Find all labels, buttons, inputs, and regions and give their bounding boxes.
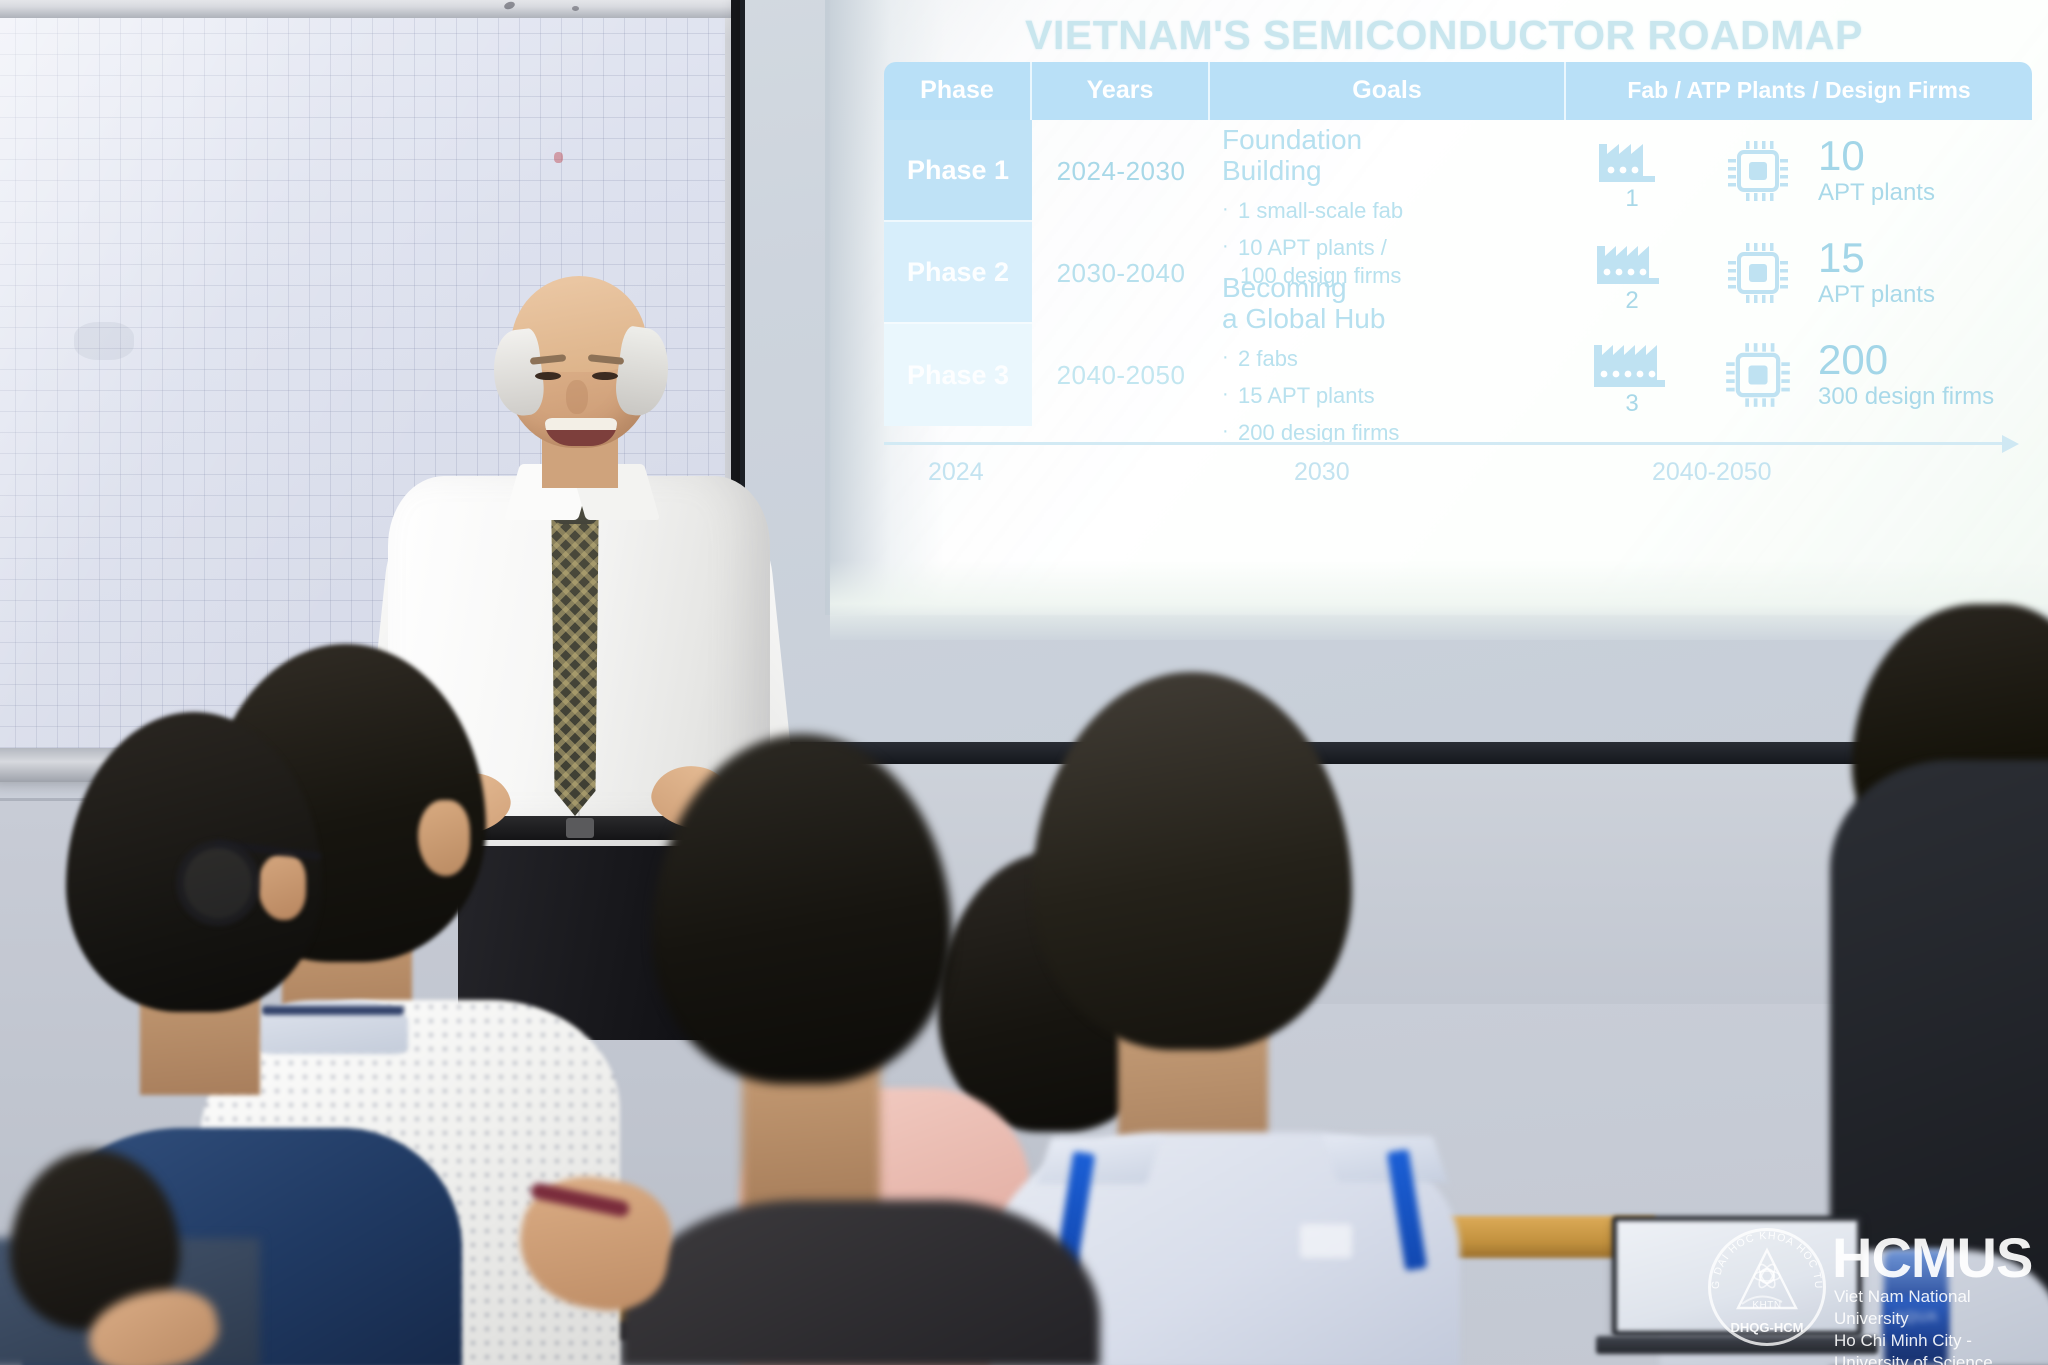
chip-unit-phase-3: 200 300 design firms [1698, 339, 2028, 411]
presenter-eye-right [592, 372, 618, 380]
chip-number-phase-3: 200 [1818, 339, 1888, 381]
seal-emblem-icon [1730, 1246, 1804, 1324]
fab-row-phase-2: 2 [1566, 222, 2032, 324]
chip-number-phase-1: 10 [1818, 135, 1865, 177]
timeline-arrow-icon [2002, 435, 2019, 453]
years-column: 2024-2030 2030-2040 2040-2050 [1032, 120, 1210, 427]
hcmus-full-name: Viet Nam National University Ho Chi Minh… [1834, 1286, 2044, 1365]
belt-buckle [566, 818, 594, 838]
table-row-phase-2-label: Phase 2 [884, 222, 1032, 324]
audience-member-body [620, 1200, 1100, 1365]
audience-member-collar [1037, 1138, 1162, 1184]
hcmus-line-3: University of Science [1834, 1353, 1993, 1365]
fab-unit-phase-1: 1 [1566, 130, 1698, 213]
bullet-icon: · [1222, 234, 1229, 260]
column-header-years: Years [1032, 62, 1210, 120]
fab-atp-column: 1 [1566, 120, 2032, 427]
screenshot-scene: VIETNAM'S SEMICONDUCTOR ROADMAP Phase Ye… [0, 0, 2048, 1365]
goal-item-text: 15 APT plants [1238, 383, 1375, 408]
hcmus-line-2: Ho Chi Minh City - [1834, 1331, 1972, 1350]
presenter-nose [566, 380, 588, 414]
timeline-label-2040-2050: 2040-2050 [1652, 458, 1772, 487]
slide-title: VIETNAM'S SEMICONDUCTOR ROADMAP [924, 12, 1964, 59]
timeline-axis: 2024 2030 2040-2050 [884, 432, 2032, 502]
goal-block-foundation: Foundation Building · 1 small-scale fab … [1222, 124, 1566, 290]
seal-inner-text: KHTN [1708, 1300, 1826, 1311]
goal-heading-line-2: a Global Hub [1222, 303, 1385, 334]
hcmus-watermark: TRUONG DAI HOC KHOA HOC TU NHIEN KHTN DH… [1700, 1220, 2048, 1365]
timeline-label-2024: 2024 [928, 458, 984, 487]
fab-count-phase-3: 3 [1625, 390, 1638, 418]
chip-values-phase-3: 200 300 design firms [1818, 339, 2028, 411]
timeline-label-2030: 2030 [1294, 458, 1350, 487]
table-row-phase-1-years: 2024-2030 [1032, 120, 1210, 222]
goal-item-text: 2 fabs [1238, 346, 1298, 371]
goal-item-text: 1 small-scale fab [1238, 198, 1403, 223]
lanyard-badge [1300, 1224, 1352, 1258]
factory-icon [1595, 130, 1669, 182]
bullet-icon: · [1222, 197, 1229, 223]
goals-column: Foundation Building · 1 small-scale fab … [1210, 120, 1566, 427]
audience-member-collar [1323, 1136, 1448, 1182]
microchip-icon [1725, 240, 1791, 306]
timeline-line [884, 442, 2004, 445]
chip-values-phase-2: 15 APT plants [1818, 237, 2028, 309]
hcmus-line-1: Viet Nam National University [1834, 1287, 1971, 1328]
fab-count-phase-2: 2 [1625, 287, 1638, 315]
chip-number-phase-2: 15 [1818, 237, 1865, 279]
column-header-goals: Goals [1210, 62, 1566, 120]
projection-bottom-falloff [830, 560, 2048, 640]
hcmus-acronym: HCMUS [1832, 1230, 2032, 1286]
collar-stripe [262, 1006, 404, 1015]
bullet-icon: · [1222, 345, 1229, 371]
factory-icon [1590, 333, 1674, 387]
microchip-icon [1723, 340, 1793, 410]
whiteboard-top-rail [0, 0, 731, 18]
chip-icon-wrap [1698, 340, 1818, 410]
microchip-icon [1725, 138, 1791, 204]
factory-icon [1593, 232, 1671, 284]
chip-label-phase-1: APT plants [1818, 179, 1935, 207]
seal-bottom-text: DHQG-HCM [1700, 1320, 1834, 1335]
bullet-icon: · [1222, 382, 1229, 408]
goal-heading-global-hub: Becoming a Global Hub [1222, 272, 1566, 335]
table-row-phase-2-years: 2030-2040 [1032, 222, 1210, 324]
table-body: Phase 1 Phase 2 Phase 3 2024-2030 2030-2… [884, 120, 2032, 427]
fab-count-phase-1: 1 [1625, 185, 1638, 213]
whiteboard-smudge [572, 6, 579, 11]
column-header-phase: Phase [884, 62, 1032, 120]
fab-unit-phase-2: 2 [1566, 232, 1698, 315]
table-row-phase-3-years: 2040-2050 [1032, 324, 1210, 426]
goal-item: · 2 fabs [1222, 345, 1566, 373]
presenter-teeth [545, 418, 617, 430]
goal-heading-line-2: Building [1222, 155, 1322, 186]
eyeglasses-lens [176, 840, 260, 926]
slide: VIETNAM'S SEMICONDUCTOR ROADMAP Phase Ye… [862, 0, 2048, 620]
chip-label-phase-3: 300 design firms [1818, 383, 1994, 411]
table-header-row: Phase Years Goals Fab / ATP Plants / Des… [884, 62, 2032, 120]
goal-heading-line-1: Becoming [1222, 272, 1347, 303]
table-row-phase-3-label: Phase 3 [884, 324, 1032, 426]
goal-heading-foundation: Foundation Building [1222, 124, 1566, 187]
phase-column: Phase 1 Phase 2 Phase 3 [884, 120, 1032, 427]
fab-row-phase-3: 3 [1566, 324, 2032, 426]
audience-member-ear [418, 800, 470, 876]
goal-item: · 1 small-scale fab [1222, 197, 1566, 225]
presenter-tie [548, 504, 602, 816]
chip-label-phase-2: APT plants [1818, 281, 1935, 309]
whiteboard-red-mark [554, 152, 563, 163]
roadmap-table: Phase Years Goals Fab / ATP Plants / Des… [884, 62, 2032, 427]
presenter-eye-left [535, 372, 561, 380]
whiteboard-smudge [74, 322, 134, 360]
chip-icon-wrap [1698, 138, 1818, 204]
audience-member-ear [258, 854, 306, 920]
fab-unit-phase-3: 3 [1566, 333, 1698, 418]
chip-icon-wrap [1698, 240, 1818, 306]
fab-row-phase-1: 1 [1566, 120, 2032, 222]
goal-item: · 15 APT plants [1222, 382, 1566, 410]
chip-values-phase-1: 10 APT plants [1818, 135, 2028, 207]
goal-block-global-hub: Becoming a Global Hub · 2 fabs · 15 APT … [1222, 272, 1566, 447]
goal-item-text: 10 APT plants / [1238, 235, 1387, 260]
table-row-phase-1-label: Phase 1 [884, 120, 1032, 222]
column-header-fab-atp-design: Fab / ATP Plants / Design Firms [1566, 62, 2032, 120]
goal-heading-line-1: Foundation [1222, 124, 1362, 155]
chip-unit-phase-1: 10 APT plants [1698, 135, 2028, 207]
chip-unit-phase-2: 15 APT plants [1698, 237, 2028, 309]
